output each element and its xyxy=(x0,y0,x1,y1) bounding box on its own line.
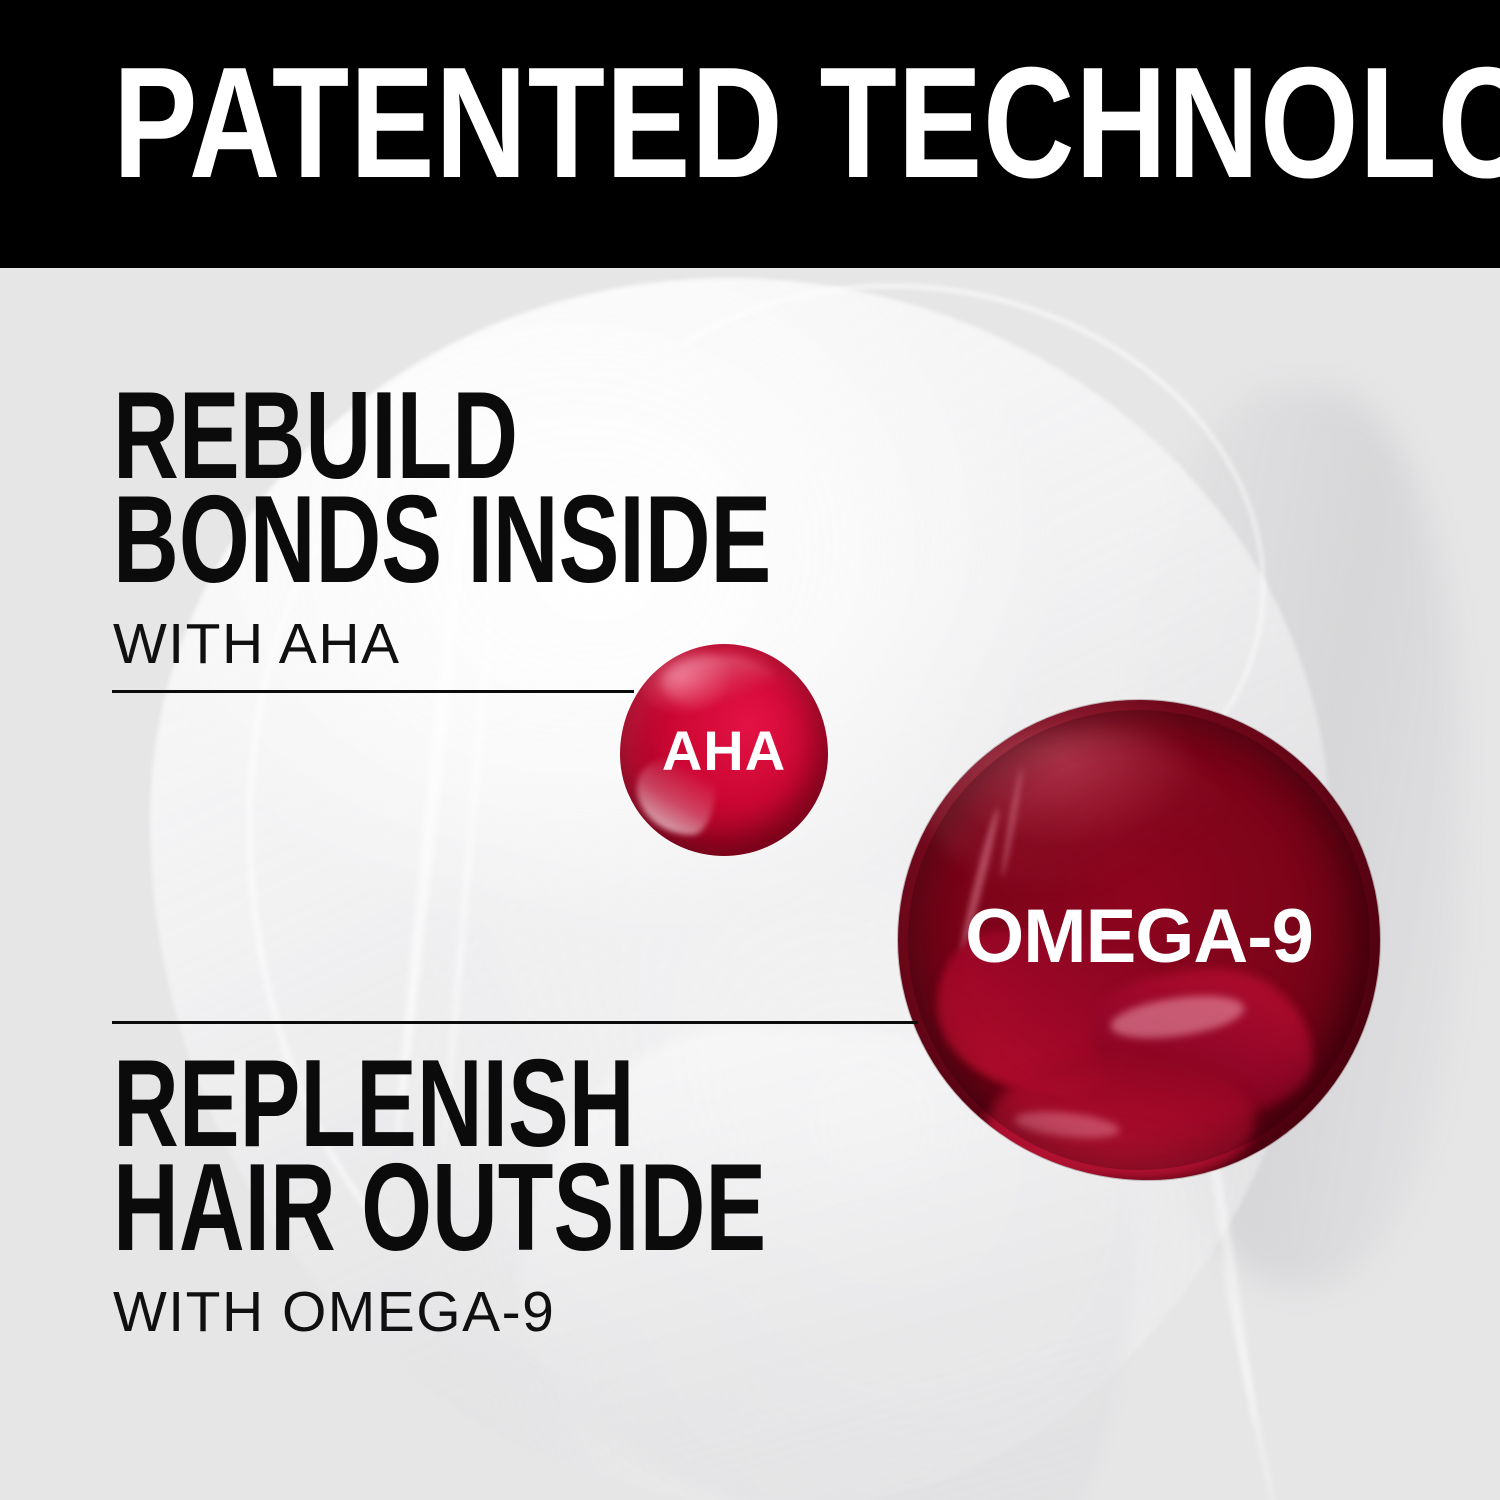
connector-line-omega9 xyxy=(112,1021,918,1024)
page-title: PATENTED TECHNOLOGY xyxy=(113,44,1500,202)
header-band: PATENTED TECHNOLOGY xyxy=(0,0,1500,268)
ingredient-sphere-aha: AHA xyxy=(620,644,828,856)
benefit-block-replenish: REPLENISH HAIR OUTSIDE WITH OMEGA-9 xyxy=(113,1052,1002,1342)
benefit-headline-line2-replenish: HAIR OUTSIDE xyxy=(113,1156,766,1260)
benefit-subline-rebuild: WITH AHA xyxy=(113,614,1009,674)
infographic-canvas: AHA OMEGA-9 REBUILD BONDS INSIDE WITH AH… xyxy=(0,0,1500,1500)
connector-line-aha xyxy=(112,690,634,693)
benefit-headline-line2-rebuild: BONDS INSIDE xyxy=(113,488,771,592)
aha-sphere-label: AHA xyxy=(620,644,828,856)
benefit-subline-replenish: WITH OMEGA-9 xyxy=(113,1282,1002,1342)
benefit-block-rebuild: REBUILD BONDS INSIDE WITH AHA xyxy=(113,384,1009,674)
droplet-streak-4 xyxy=(1217,1251,1285,1500)
